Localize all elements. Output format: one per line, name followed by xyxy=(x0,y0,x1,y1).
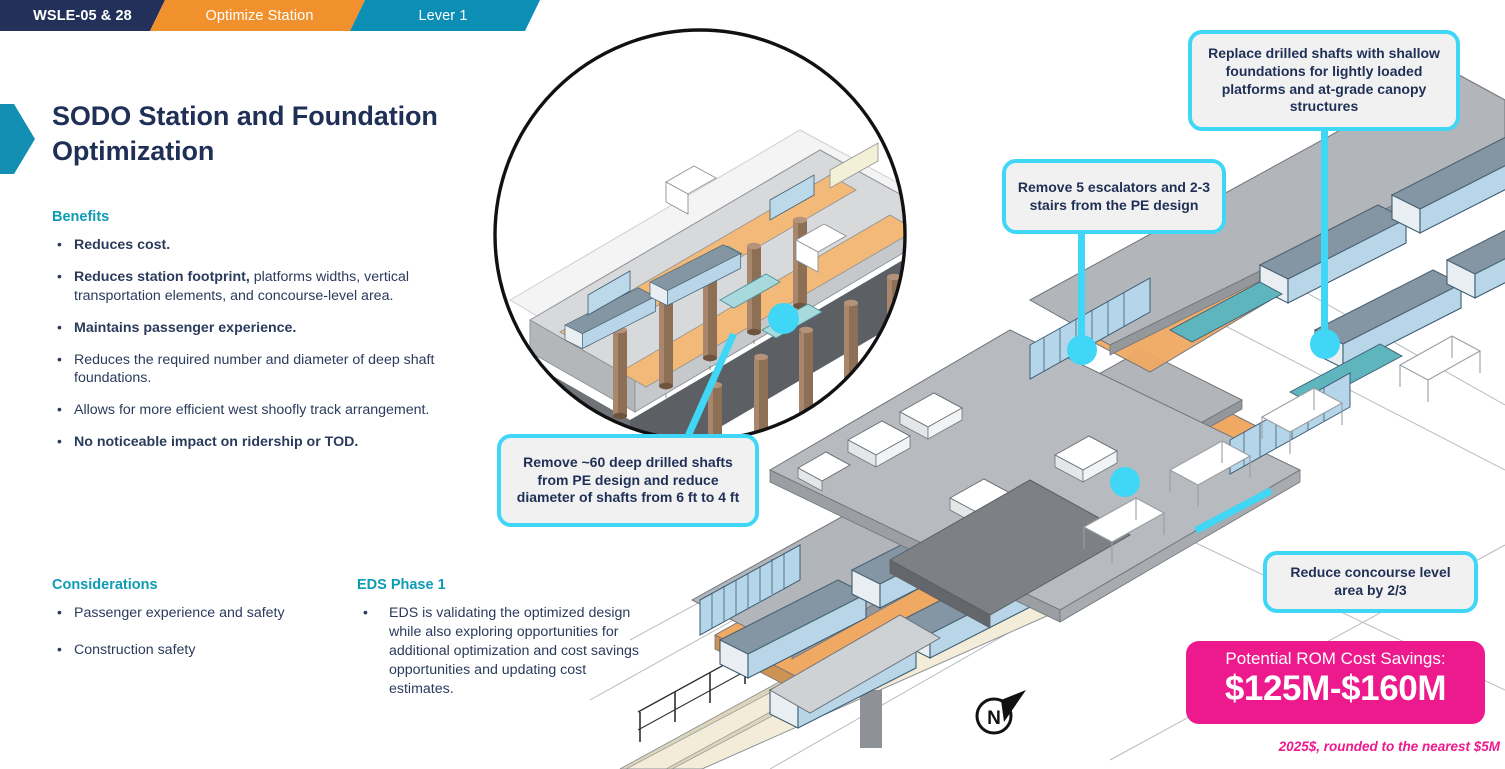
list-item-bold: Reduces station footprint, xyxy=(74,269,250,285)
list-item: Reduces the required number and diameter… xyxy=(52,351,452,389)
callout-drilled-shafts-text: Remove ~60 deep drilled shafts from PE d… xyxy=(511,454,745,507)
list-item: Reduces cost. xyxy=(52,236,452,255)
leader-dot-escalators xyxy=(1067,335,1097,365)
list-item-bold: No noticeable impact on ridership or TOD… xyxy=(74,434,358,450)
cost-savings-badge: Potential ROM Cost Savings: $125M-$160M xyxy=(1186,641,1485,724)
header-segment-id: WSLE-05 & 28 xyxy=(0,0,165,31)
considerations-list: Passenger experience and safety Construc… xyxy=(52,604,317,660)
compass-rose: N xyxy=(977,690,1026,733)
leader-line-escalators xyxy=(1078,234,1085,349)
considerations-block: Considerations Passenger experience and … xyxy=(52,577,317,678)
callout-concourse-text: Reduce concourse level area by 2/3 xyxy=(1277,564,1464,600)
callout-concourse: Reduce concourse level area by 2/3 xyxy=(1263,551,1478,613)
cost-savings-note: 2025$, rounded to the nearest $5M xyxy=(1200,739,1500,754)
list-item-text: Passenger experience and safety xyxy=(74,605,285,621)
header-segment-category: Optimize Station xyxy=(150,0,365,31)
benefits-list: Reduces cost. Reduces station footprint,… xyxy=(52,236,452,452)
leader-dot-shallow-foundations xyxy=(1310,329,1340,359)
benefits-heading: Benefits xyxy=(52,209,452,225)
header-segment-lever-label: Lever 1 xyxy=(418,8,467,24)
list-item: Allows for more efficient west shoofly t… xyxy=(52,401,452,420)
list-item-text: Allows for more efficient west shoofly t… xyxy=(74,402,429,418)
leader-dot-drilled-shafts xyxy=(768,303,799,334)
considerations-heading: Considerations xyxy=(52,577,317,593)
list-item: Reduces station footprint, platforms wid… xyxy=(52,268,452,306)
list-item-bold: Maintains passenger experience. xyxy=(74,320,296,336)
header-segment-category-label: Optimize Station xyxy=(206,8,314,24)
list-item: Passenger experience and safety xyxy=(52,604,317,623)
benefits-block: Benefits Reduces cost. Reduces station f… xyxy=(52,209,452,465)
leader-line-shallow-foundations xyxy=(1321,131,1328,344)
list-item-text: Construction safety xyxy=(74,642,195,658)
list-item-bold: Reduces cost. xyxy=(74,237,170,253)
header-segment-id-label: WSLE-05 & 28 xyxy=(33,8,132,24)
list-item: No noticeable impact on ridership or TOD… xyxy=(52,433,452,452)
cost-savings-label: Potential ROM Cost Savings: xyxy=(1186,648,1485,669)
callout-escalators: Remove 5 escalators and 2-3 stairs from … xyxy=(1002,159,1226,234)
callout-drilled-shafts: Remove ~60 deep drilled shafts from PE d… xyxy=(497,434,759,527)
slide-root: WSLE-05 & 28 Optimize Station Lever 1 SO… xyxy=(0,0,1505,769)
page-title: SODO Station and Foundation Optimization xyxy=(52,99,482,168)
callout-shallow-foundations-text: Replace drilled shafts with shallow foun… xyxy=(1202,45,1446,116)
left-arrow-marker xyxy=(0,104,35,174)
list-item: Construction safety xyxy=(52,641,317,660)
callout-shallow-foundations: Replace drilled shafts with shallow foun… xyxy=(1188,30,1460,131)
svg-text:N: N xyxy=(987,708,1001,729)
list-item-text: Reduces the required number and diameter… xyxy=(74,352,434,387)
callout-escalators-text: Remove 5 escalators and 2-3 stairs from … xyxy=(1016,179,1212,215)
list-item: Maintains passenger experience. xyxy=(52,319,452,338)
leader-dot-concourse xyxy=(1110,467,1140,497)
cost-savings-value: $125M-$160M xyxy=(1186,669,1485,708)
